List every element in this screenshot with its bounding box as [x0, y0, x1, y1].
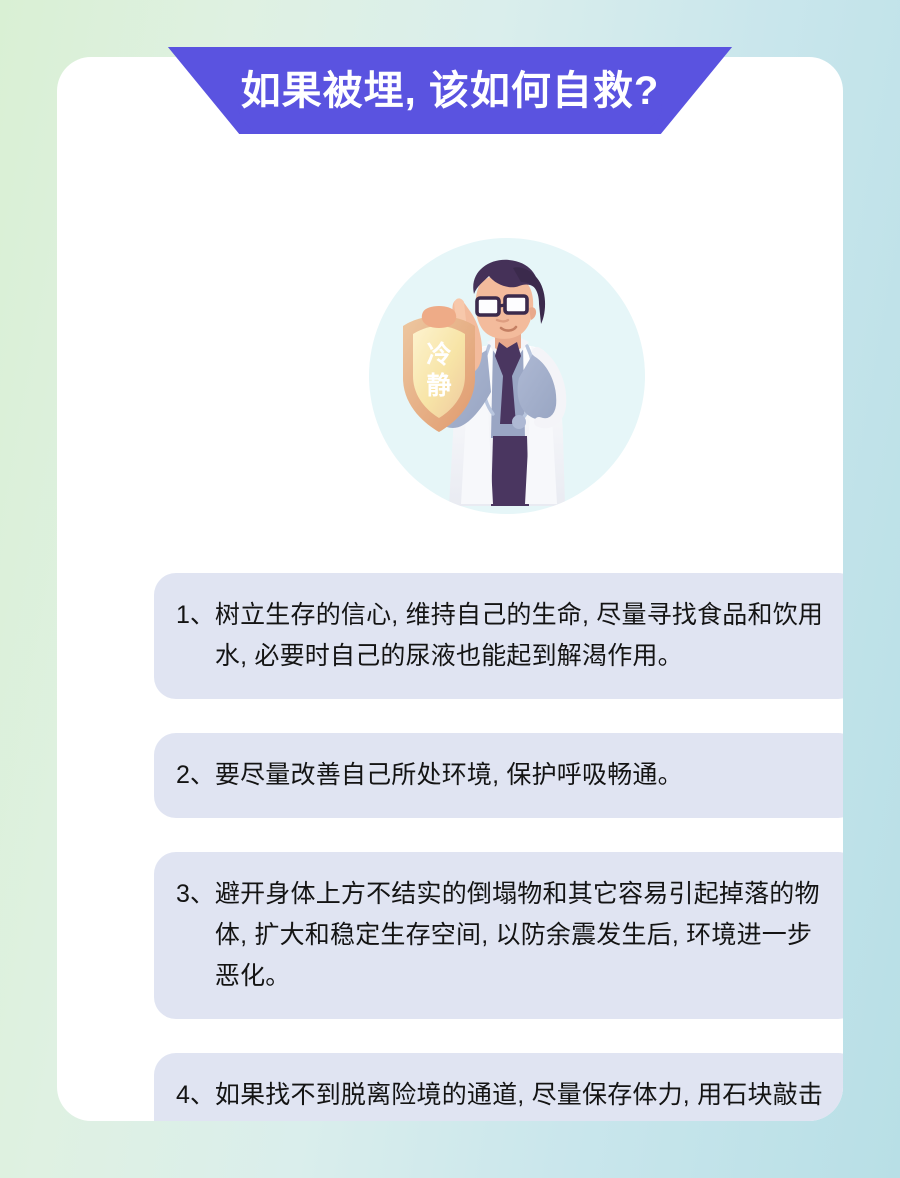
doctor-with-shield-illustration: 冷 静	[369, 238, 645, 514]
tip-number-1: 1、	[176, 595, 215, 636]
tips-list: 1、 树立生存的信心, 维持自己的生命, 尽量寻找食品和饮用水, 必要时自己的尿…	[154, 573, 843, 1121]
tip-item-4: 4、 如果找不到脱离险境的通道, 尽量保存体力, 用石块敲击能发出声响的物体, …	[154, 1053, 843, 1121]
tip-number-3: 3、	[176, 874, 215, 915]
tip-text-1: 树立生存的信心, 维持自己的生命, 尽量寻找食品和饮用水, 必要时自己的尿液也能…	[215, 595, 832, 677]
tip-text-2: 要尽量改善自己所处环境, 保护呼吸畅通。	[215, 755, 832, 796]
tip-text-4: 如果找不到脱离险境的通道, 尽量保存体力, 用石块敲击能发出声响的物体, 向外发…	[215, 1075, 832, 1121]
poster-root: 冷 静 1、 树立生存的信心, 维持自己的生命, 尽量寻找食品和饮用水, 必要时…	[0, 0, 900, 1178]
shield-label-line1: 冷	[426, 340, 451, 369]
content-card: 冷 静 1、 树立生存的信心, 维持自己的生命, 尽量寻找食品和饮用水, 必要时…	[57, 57, 843, 1121]
tip-number-4: 4、	[176, 1075, 215, 1116]
tip-item-1: 1、 树立生存的信心, 维持自己的生命, 尽量寻找食品和饮用水, 必要时自己的尿…	[154, 573, 843, 699]
tip-text-3: 避开身体上方不结实的倒塌物和其它容易引起掉落的物体, 扩大和稳定生存空间, 以防…	[215, 874, 832, 997]
tip-item-2: 2、 要尽量改善自己所处环境, 保护呼吸畅通。	[154, 733, 843, 818]
tip-number-2: 2、	[176, 755, 215, 796]
shield-label-line2: 静	[426, 371, 451, 400]
tip-item-3: 3、 避开身体上方不结实的倒塌物和其它容易引起掉落的物体, 扩大和稳定生存空间,…	[154, 852, 843, 1019]
